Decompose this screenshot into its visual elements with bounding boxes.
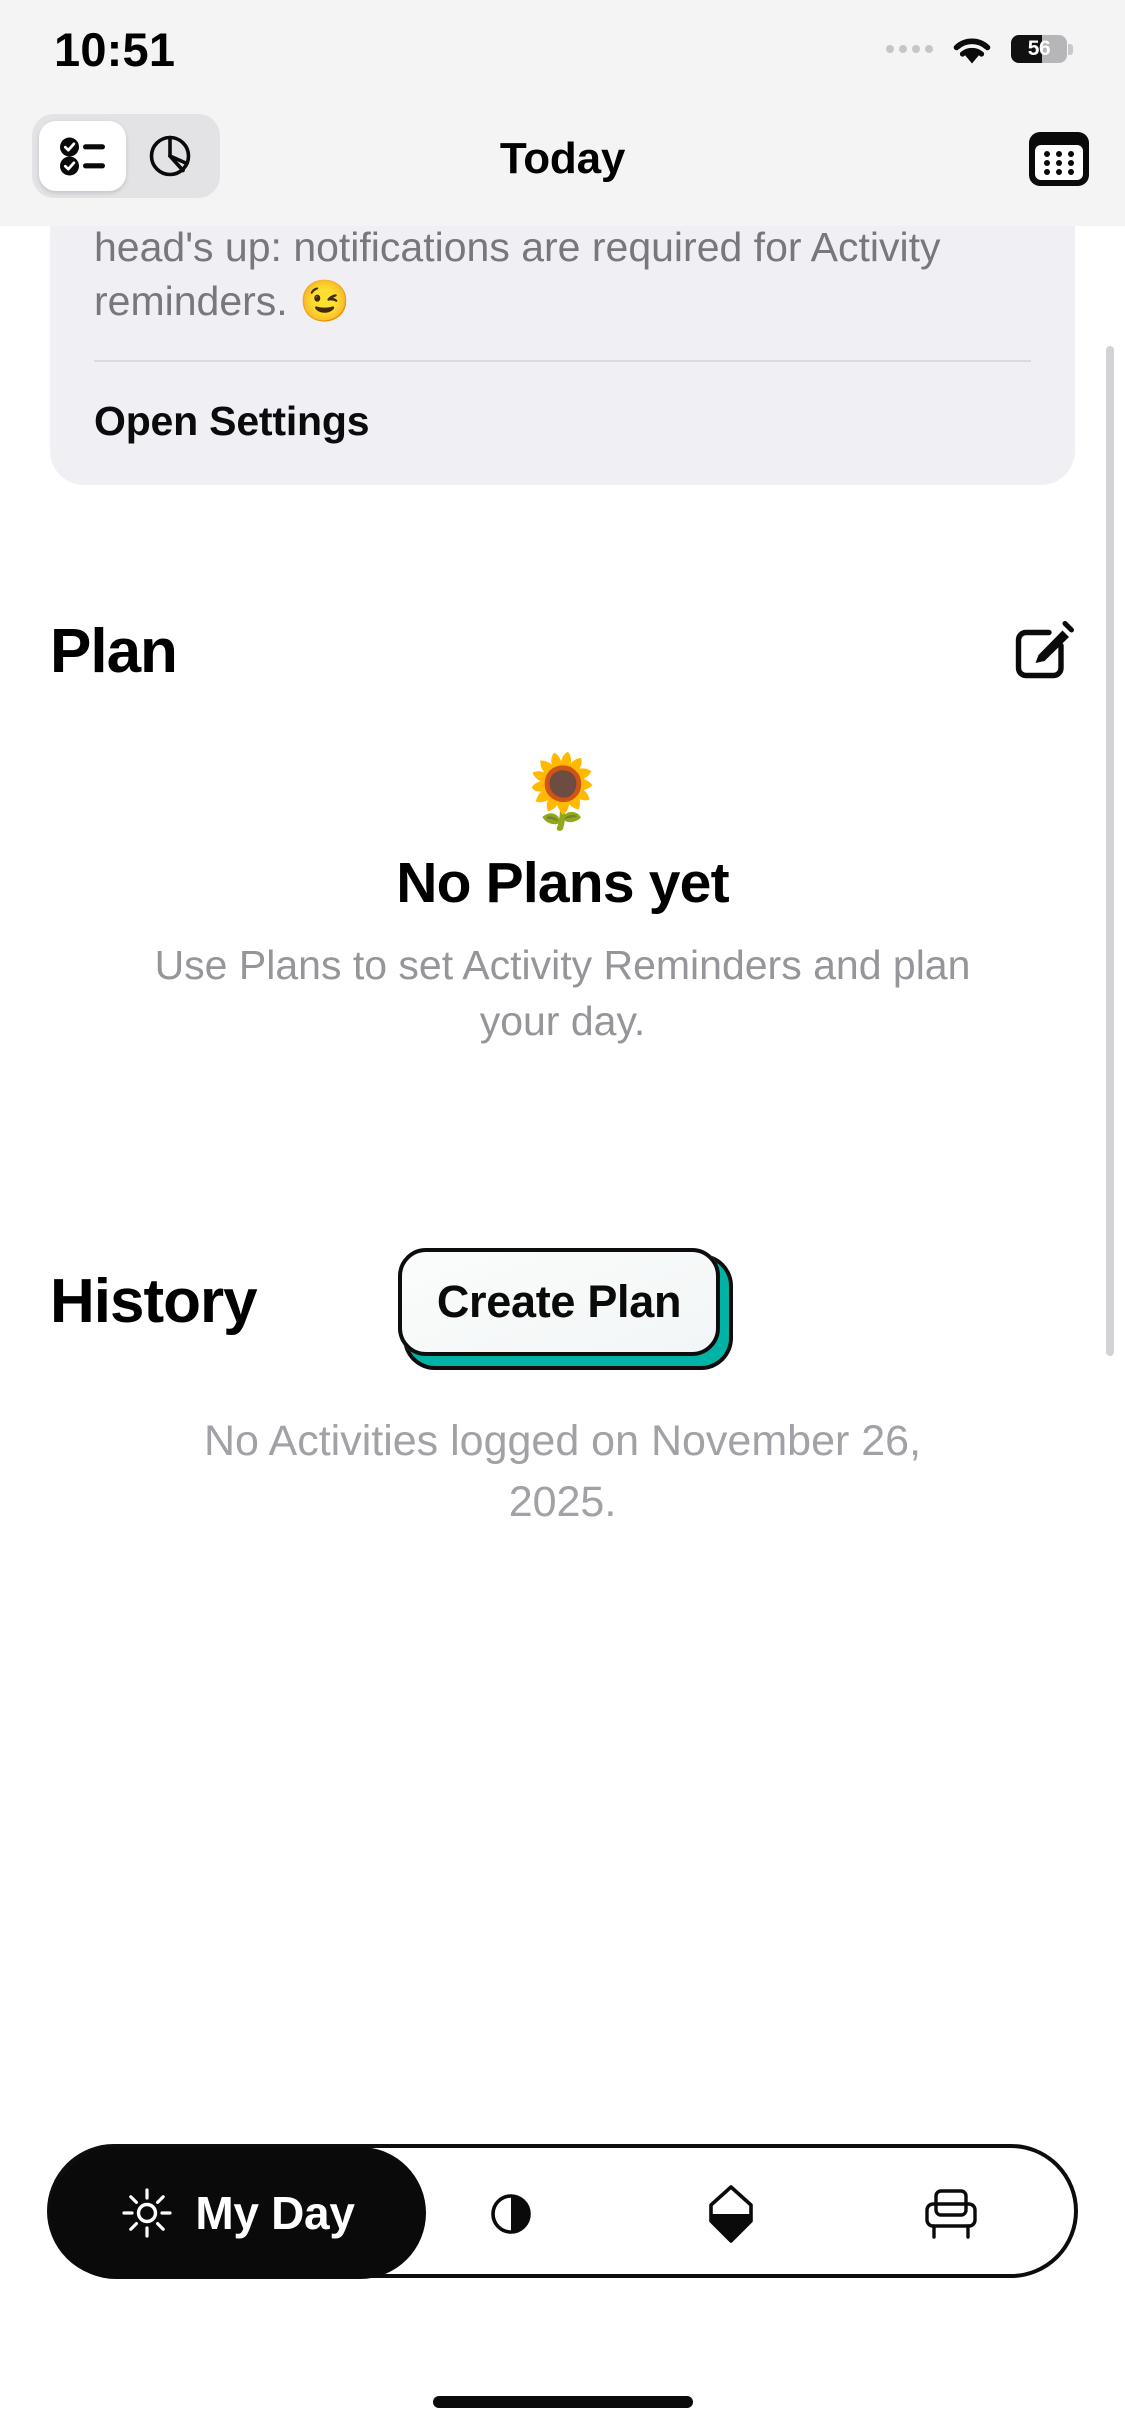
history-empty-text: No Activities logged on November 26, 202… xyxy=(0,1411,1125,1533)
cellular-dots-icon xyxy=(886,45,933,53)
wifi-icon xyxy=(950,33,994,65)
half-circle-icon xyxy=(483,2186,539,2242)
home-indicator xyxy=(433,2396,693,2408)
navigation-bar: Today xyxy=(0,92,1125,226)
bottom-tab-bar: My Day xyxy=(47,2144,1078,2278)
history-section-title: History xyxy=(50,1266,257,1337)
tab-relax[interactable] xyxy=(871,2148,1031,2280)
notification-permission-banner: head's up: notifications are required fo… xyxy=(50,226,1075,485)
plan-empty-title: No Plans yet xyxy=(0,850,1125,916)
sun-icon xyxy=(121,2187,173,2239)
status-time: 10:51 xyxy=(54,20,175,73)
sunflower-emoji-icon: 🌻 xyxy=(0,756,1125,828)
tab-focus[interactable] xyxy=(431,2148,591,2280)
half-gem-icon xyxy=(703,2183,759,2245)
status-indicators: 56 xyxy=(886,27,1067,65)
battery-icon: 56 xyxy=(1011,35,1067,63)
calendar-button[interactable] xyxy=(1027,130,1091,188)
open-settings-button[interactable]: Open Settings xyxy=(94,362,1031,445)
tab-my-day-label: My Day xyxy=(195,2186,354,2240)
tab-my-day[interactable]: My Day xyxy=(50,2147,426,2279)
status-bar: 10:51 56 xyxy=(0,0,1125,92)
edit-plan-button[interactable] xyxy=(1013,618,1075,685)
plan-section-title: Plan xyxy=(50,616,177,687)
calendar-icon xyxy=(1027,130,1091,188)
scroll-content[interactable]: head's up: notifications are required fo… xyxy=(0,226,1125,2436)
armchair-icon xyxy=(922,2186,980,2242)
history-section-header: History xyxy=(50,1266,1075,1337)
battery-percent: 56 xyxy=(1011,35,1067,63)
plan-section-header: Plan xyxy=(50,616,1075,687)
scrollbar[interactable] xyxy=(1106,346,1114,1356)
banner-message: head's up: notifications are required fo… xyxy=(94,226,1031,328)
plan-empty-state: 🌻 No Plans yet Use Plans to set Activity… xyxy=(0,756,1125,1050)
compose-icon xyxy=(1013,618,1075,680)
plan-empty-subtitle: Use Plans to set Activity Reminders and … xyxy=(0,938,1125,1050)
page-title: Today xyxy=(0,134,1125,184)
tab-insights[interactable] xyxy=(651,2148,811,2280)
app-screen: 10:51 56 xyxy=(0,0,1125,2436)
